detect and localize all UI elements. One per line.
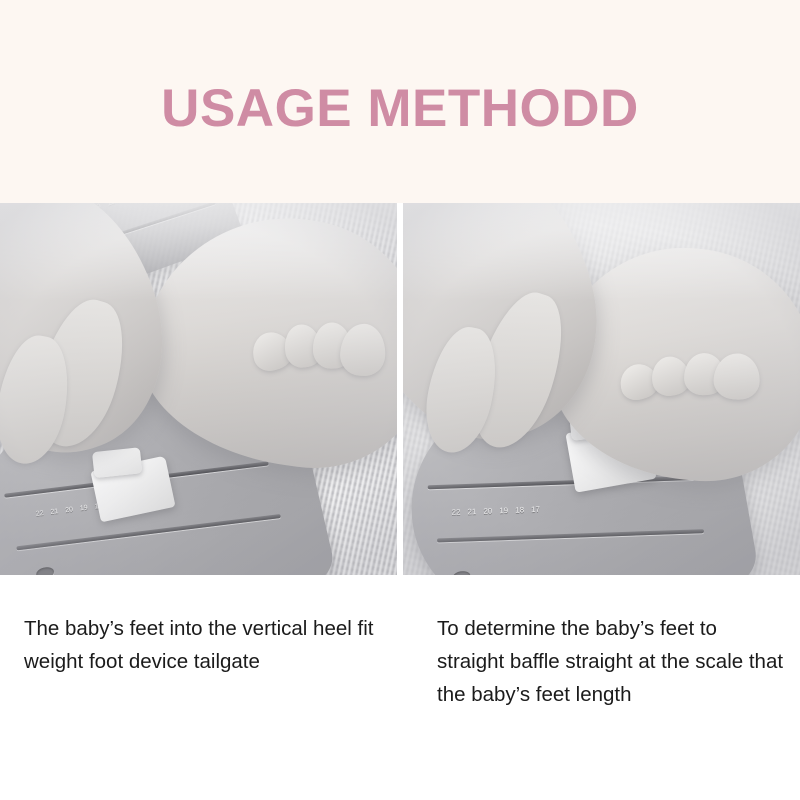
step-2-photo: 222120191817 [403, 203, 800, 575]
hanging-hole [35, 566, 55, 575]
usage-method-infographic: USAGE METHODD 222120191817 222120191817 [0, 0, 800, 800]
step-1-caption: The baby’s feet into the vertical heel f… [24, 612, 378, 678]
page-title: USAGE METHODD [161, 82, 639, 135]
photo-strip: 222120191817 222120191817 [0, 203, 800, 575]
step-2-caption-column: To determine the baby’s feet to straight… [400, 575, 800, 800]
baby-toes [245, 312, 385, 403]
step-1-photo: 222120191817 222120191817 [0, 203, 397, 575]
step-2-caption: To determine the baby’s feet to straight… [437, 612, 784, 711]
caption-row: The baby’s feet into the vertical heel f… [0, 575, 800, 800]
device-scale-numbers: 222120191817 [451, 505, 540, 517]
step-1-caption-column: The baby’s feet into the vertical heel f… [0, 575, 400, 800]
baby-toes [617, 343, 760, 426]
header-banner: USAGE METHODD [0, 0, 800, 203]
